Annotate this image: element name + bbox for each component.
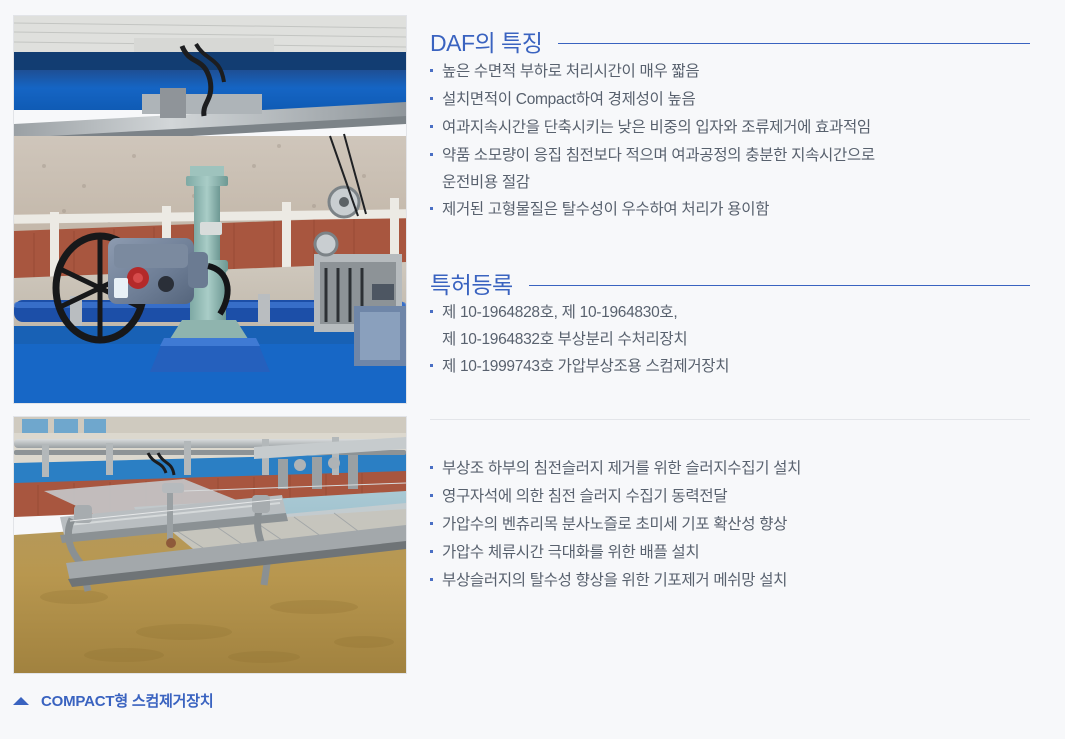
list-item: 가압수의 벤츄리목 분사노즐로 초미세 기포 확산성 향상 bbox=[430, 511, 1030, 539]
page-root: COMPACT형 스컴제거장치 DAF의 특징 높은 수면적 부하로 처리시간이… bbox=[0, 0, 1065, 739]
photo-daf-flotation-tank bbox=[13, 416, 407, 674]
section-rule bbox=[558, 43, 1030, 44]
photo-caption: COMPACT형 스컴제거장치 bbox=[13, 690, 213, 711]
list-item: 제 10-1999743호 가압부상조용 스컴제거장치 bbox=[430, 353, 1030, 381]
list-item: 설치면적이 Compact하여 경제성이 높음 bbox=[430, 86, 1030, 114]
photo-caption-label: COMPACT형 스컴제거장치 bbox=[41, 690, 213, 711]
section-title-patent-registration: 특허등록 bbox=[430, 272, 513, 300]
list-item: 높은 수면적 부하로 처리시간이 매우 짧음 bbox=[430, 58, 1030, 86]
list-item: 여과지속시간을 단축시키는 낮은 비중의 입자와 조류제거에 효과적임 bbox=[430, 114, 1030, 142]
additional-features-list: 부상조 하부의 침전슬러지 제거를 위한 슬러지수집기 설치 영구자석에 의한 … bbox=[430, 455, 1030, 595]
list-item: 영구자석에 의한 침전 슬러지 수집기 동력전달 bbox=[430, 483, 1030, 511]
list-item: 부상슬러지의 탈수성 향상을 위한 기포제거 메쉬망 설치 bbox=[430, 567, 1030, 595]
section-header: DAF의 특징 bbox=[430, 30, 1030, 58]
section-patent-registration: 특허등록 제 10-1964828호, 제 10-1964830호, 제 10-… bbox=[430, 272, 1030, 382]
list-item: 제거된 고형물질은 탈수성이 우수하여 처리가 용이함 bbox=[430, 196, 1030, 224]
photo-daf-scum-remover-actuator bbox=[13, 15, 407, 404]
section-rule bbox=[529, 285, 1030, 286]
patent-list: 제 10-1964828호, 제 10-1964830호, 제 10-19648… bbox=[430, 299, 1030, 381]
list-item: 가압수 체류시간 극대화를 위한 배플 설치 bbox=[430, 539, 1030, 567]
photo-column bbox=[13, 15, 407, 674]
section-divider bbox=[430, 419, 1030, 420]
daf-features-list: 높은 수면적 부하로 처리시간이 매우 짧음 설치면적이 Compact하여 경… bbox=[430, 58, 1030, 224]
section-title-daf-features: DAF의 특징 bbox=[430, 30, 542, 58]
triangle-up-icon bbox=[13, 697, 29, 705]
section-header: 특허등록 bbox=[430, 272, 1030, 300]
list-item: 약품 소모량이 응집 침전보다 적으며 여과공정의 충분한 지속시간으로 운전비… bbox=[430, 142, 1030, 196]
list-item: 부상조 하부의 침전슬러지 제거를 위한 슬러지수집기 설치 bbox=[430, 455, 1030, 483]
section-additional-features: 부상조 하부의 침전슬러지 제거를 위한 슬러지수집기 설치 영구자석에 의한 … bbox=[430, 455, 1030, 595]
section-daf-features: DAF의 특징 높은 수면적 부하로 처리시간이 매우 짧음 설치면적이 Com… bbox=[430, 30, 1030, 224]
list-item: 제 10-1964828호, 제 10-1964830호, 제 10-19648… bbox=[430, 299, 1030, 353]
content-column: DAF의 특징 높은 수면적 부하로 처리시간이 매우 짧음 설치면적이 Com… bbox=[430, 30, 1030, 595]
